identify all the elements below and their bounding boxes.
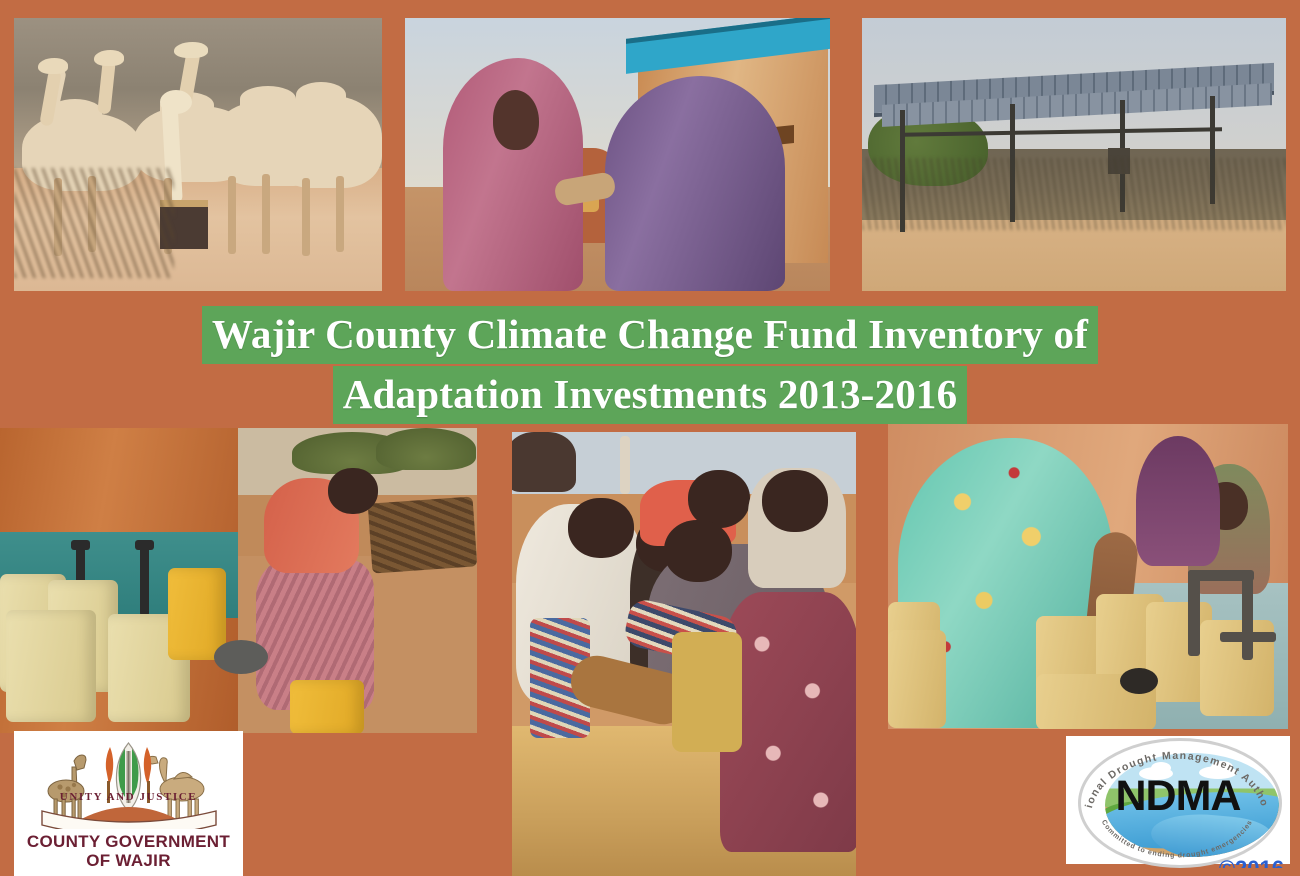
county-crest-icon	[14, 737, 243, 823]
ndma-logo: National Drought Management Authority Co…	[1066, 736, 1290, 864]
photo-community-at-water-trough	[512, 432, 856, 876]
title-line-2: Adaptation Investments 2013-2016	[333, 366, 968, 424]
cover-page: Wajir County Climate Change Fund Invento…	[0, 0, 1300, 876]
cover-title: Wajir County Climate Change Fund Invento…	[0, 306, 1300, 424]
svg-text:Committed to ending drought em: Committed to ending drought emergencies	[1100, 819, 1254, 860]
footer-watermark: ©2016	[1219, 856, 1284, 868]
county-logo-line-2: OF WAJIR	[14, 852, 243, 870]
photo-solar-panel-array	[862, 18, 1286, 291]
title-line-1: Wajir County Climate Change Fund Invento…	[202, 306, 1098, 364]
photo-woman-filling-jerrycans-at-tank	[0, 428, 477, 733]
photo-woman-at-water-point	[888, 424, 1288, 729]
county-logo-text: COUNTY GOVERNMENT OF WAJIR	[14, 833, 243, 870]
svg-text:National Drought Management Au: National Drought Management Authority	[1078, 738, 1271, 809]
county-logo-line-1: COUNTY GOVERNMENT	[14, 833, 243, 851]
county-government-of-wajir-logo: UNITY AND JUSTICE COUNTY GOVERNMENT OF W…	[14, 731, 243, 876]
ndma-ring-text: National Drought Management Authority Co…	[1078, 738, 1276, 862]
photo-camels-at-watering-point	[14, 18, 382, 291]
county-motto: UNITY AND JUSTICE	[14, 791, 243, 803]
photo-women-at-water-kiosk	[405, 18, 830, 291]
